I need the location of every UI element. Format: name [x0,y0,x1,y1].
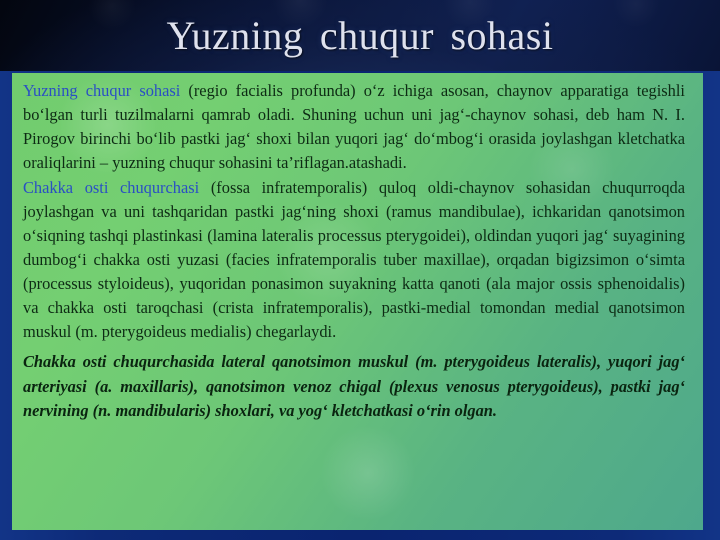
paragraph-3-emphasis: Chakka osti chuqurchasida lateral qanots… [23,350,685,424]
content-panel-frame: Yuzning chuqur sohasi (regio facialis pr… [0,71,720,540]
paragraph-2-lead-term: Chakka osti chuqurchasi [23,178,199,197]
paragraph-1: Yuzning chuqur sohasi (regio facialis pr… [23,79,685,175]
slide-canvas: Yuzning chuqur sohasi Yuzning chuqur soh… [0,0,720,540]
paragraph-2: Chakka osti chuqurchasi (fossa infratemp… [23,176,685,344]
paragraph-2-body: (fossa infratemporalis) quloq oldi-chayn… [23,178,685,341]
page-title: Yuzning chuqur sohasi [0,13,720,59]
content-panel: Yuzning chuqur sohasi (regio facialis pr… [12,73,703,530]
paragraph-1-lead-term: Yuzning chuqur sohasi [23,81,180,100]
